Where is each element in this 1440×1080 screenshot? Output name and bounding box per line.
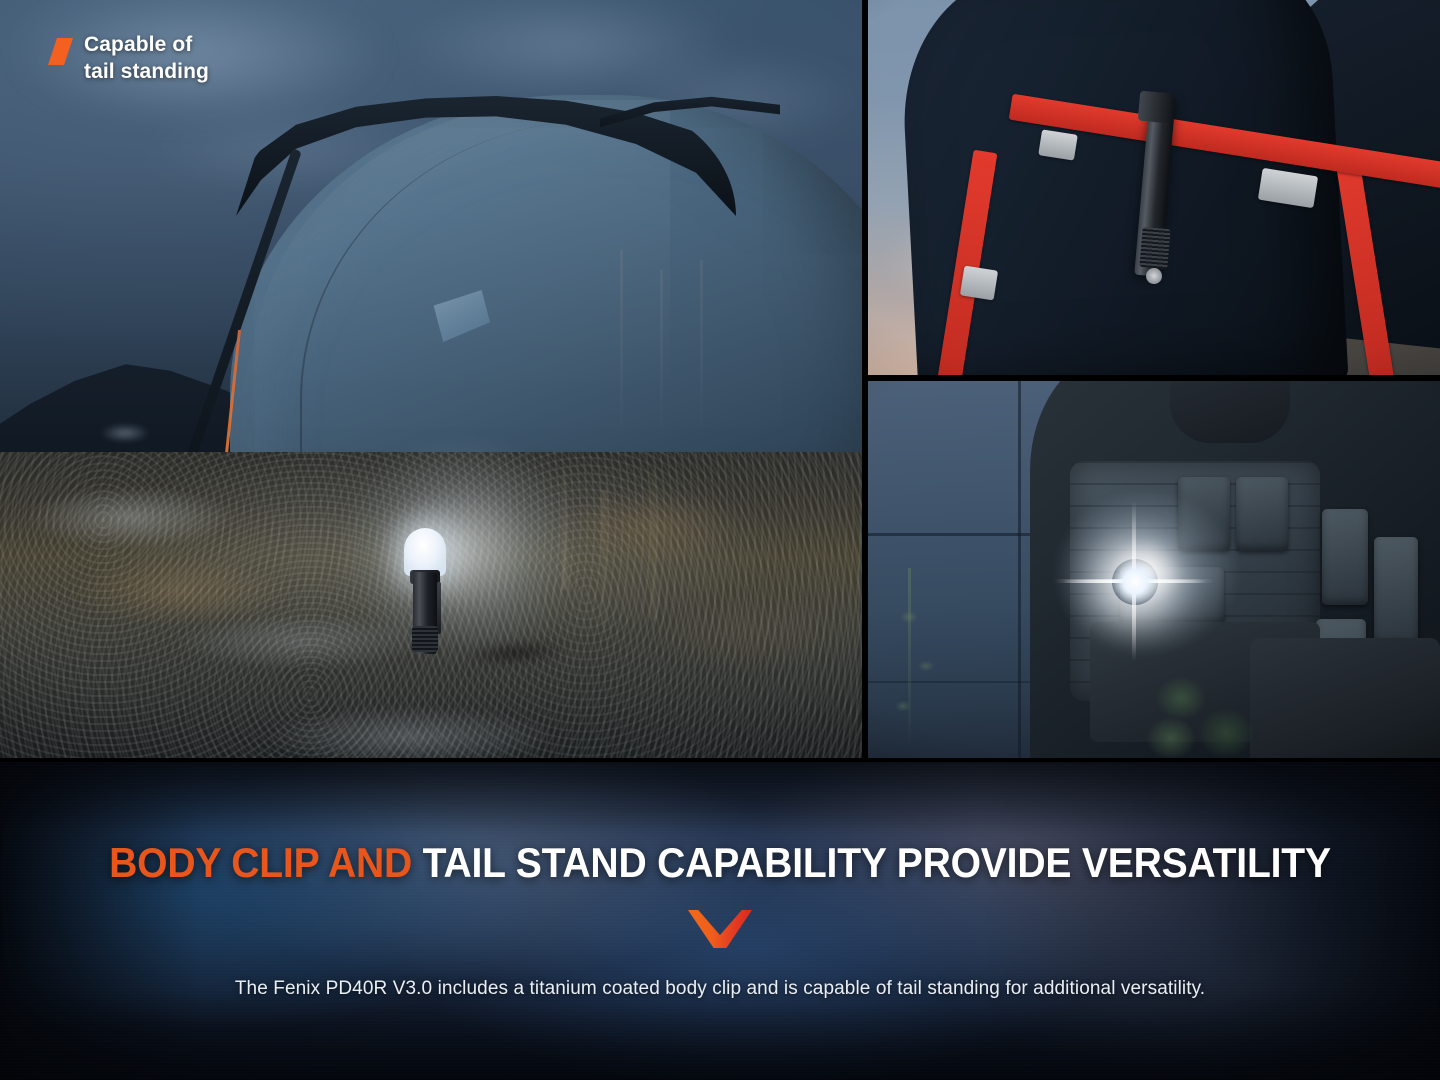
callout-tail-standing: Capable of tail standing <box>48 32 209 86</box>
banner-caption: The Fenix PD40R V3.0 includes a titanium… <box>0 978 1440 1000</box>
wall-vine <box>888 568 968 758</box>
banner-content: BODY CLIP AND TAIL STAND CAPABILITY PROV… <box>0 762 1440 1080</box>
headline-accent-text: BODY CLIP AND <box>109 839 423 886</box>
photo-panel-tail-standing: Capable of tail standing <box>0 0 862 758</box>
flashlight-body-clip <box>437 582 441 634</box>
photo-panel-attach-backpack: Attach to backpack <box>868 0 1440 375</box>
scene-hiker-backpack <box>868 0 1440 375</box>
headline-main-text: TAIL STAND CAPABILITY PROVIDE VERSATILIT… <box>423 839 1331 886</box>
feature-banner: BODY CLIP AND TAIL STAND CAPABILITY PROV… <box>0 762 1440 1080</box>
slash-marker-icon <box>48 38 73 65</box>
flashlight-knurled-tail <box>412 626 438 652</box>
foreground-shrub <box>1136 648 1266 758</box>
strap-buckle <box>1038 129 1078 160</box>
operator-head <box>1170 381 1290 443</box>
scene-tactical-operator <box>868 381 1440 758</box>
gear-bag <box>1250 638 1440 758</box>
mag-pouch <box>1374 537 1418 645</box>
chevron-down-icon <box>688 910 752 948</box>
banner-headline: BODY CLIP AND TAIL STAND CAPABILITY PROV… <box>50 842 1389 884</box>
callout-label: Capable of tail standing <box>84 32 209 86</box>
scene-night-camp <box>0 0 862 758</box>
photo-panel-on-duty: On duty <box>868 381 1440 758</box>
flashlight-head <box>1138 91 1172 124</box>
photo-grid: Capable of tail standing <box>0 0 1440 762</box>
strap-buckle <box>960 266 998 301</box>
mag-pouch <box>1322 509 1368 605</box>
flashlight-beam-core <box>1112 559 1158 605</box>
product-feature-page: Capable of tail standing <box>0 0 1440 1080</box>
flashlight-diffuser-tip <box>404 528 446 576</box>
flashlight-knurled-tail <box>1139 227 1170 269</box>
